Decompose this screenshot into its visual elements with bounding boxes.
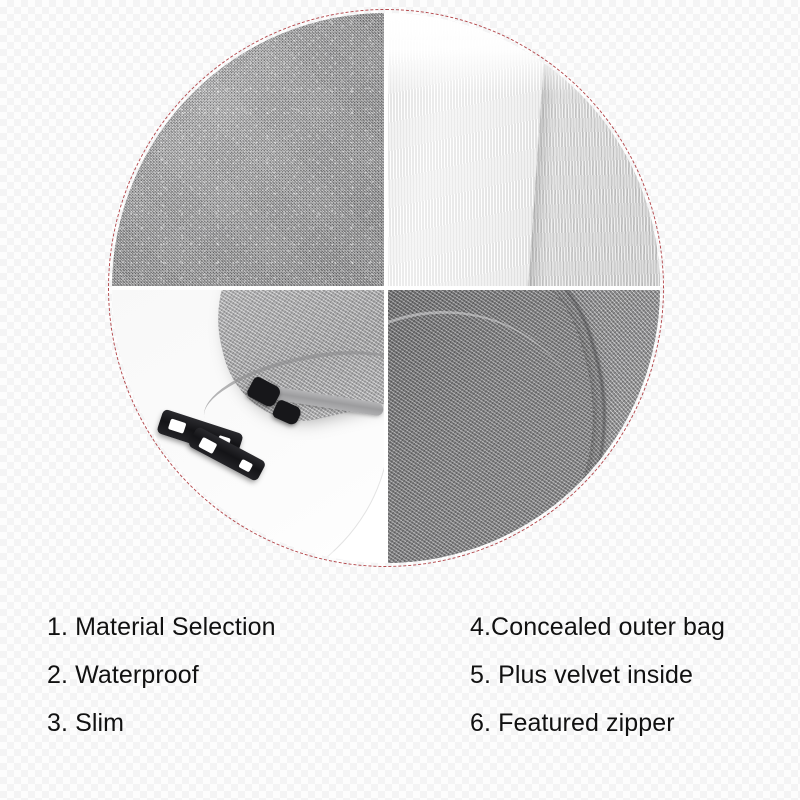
quadrant-material-selection [112, 13, 386, 288]
feature-item-2: 2. Waterproof [47, 660, 430, 690]
feature-column-right: 4.Concealed outer bag 5. Plus velvet ins… [430, 612, 800, 738]
quadrant-concealed-outer-bag [386, 288, 660, 563]
feature-list: 1. Material Selection 2. Waterproof 3. S… [0, 612, 800, 738]
product-infographic-page: 1. Material Selection 2. Waterproof 3. S… [0, 0, 800, 800]
quadrant-featured-zipper [112, 288, 386, 563]
bag-zipper-scene [112, 290, 384, 563]
woven-fabric-texture [112, 13, 386, 288]
feature-item-4: 4.Concealed outer bag [470, 612, 800, 642]
velvet-surface [388, 13, 660, 286]
feature-item-5: 5. Plus velvet inside [470, 660, 800, 690]
velvet-top-highlight [388, 13, 660, 95]
folded-fabric-scene [388, 290, 660, 563]
circular-collage [108, 9, 664, 567]
feature-item-3: 3. Slim [47, 708, 430, 738]
feature-column-left: 1. Material Selection 2. Waterproof 3. S… [0, 612, 430, 738]
collage-quadrants [112, 13, 660, 563]
feature-item-6: 6. Featured zipper [470, 708, 800, 738]
quadrant-waterproof-velvet [386, 13, 660, 288]
feature-item-1: 1. Material Selection [47, 612, 430, 642]
